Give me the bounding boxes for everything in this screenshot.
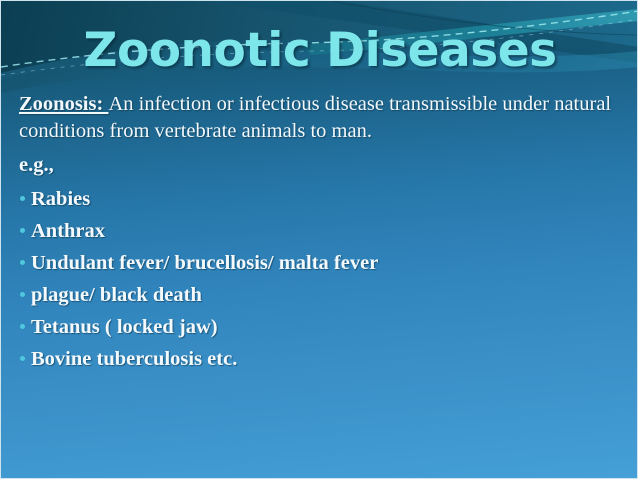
list-item-label: Tetanus ( locked jaw) (31, 316, 218, 338)
list-item: Bovine tuberculosis etc. (19, 343, 625, 375)
disease-list: Rabies Anthrax Undulant fever/ brucellos… (19, 183, 625, 375)
bullet-dot-icon (20, 324, 25, 329)
definition-term: Zoonosis: (19, 93, 108, 115)
list-item: Tetanus ( locked jaw) (19, 311, 625, 343)
definition-paragraph: Zoonosis: An infection or infectious dis… (19, 91, 625, 144)
list-item-label: plague/ black death (31, 284, 202, 306)
list-item-label: Rabies (31, 188, 90, 210)
presentation-slide: Zoonotic Diseases Zoonosis: An infection… (0, 0, 638, 479)
definition-text: An infection or infectious disease trans… (19, 93, 611, 142)
bullet-dot-icon (20, 260, 25, 265)
list-item: Anthrax (19, 215, 625, 247)
list-item-label: Undulant fever/ brucellosis/ malta fever (31, 252, 378, 274)
example-label: e.g., (19, 144, 625, 179)
bullet-dot-icon (20, 292, 25, 297)
list-item: Undulant fever/ brucellosis/ malta fever (19, 247, 625, 279)
slide-body: Zoonosis: An infection or infectious dis… (19, 91, 625, 375)
bullet-dot-icon (20, 228, 25, 233)
bullet-dot-icon (20, 196, 25, 201)
bullet-dot-icon (20, 356, 25, 361)
list-item: plague/ black death (19, 279, 625, 311)
list-item: Rabies (19, 183, 625, 215)
page-title: Zoonotic Diseases (1, 27, 638, 74)
list-item-label: Bovine tuberculosis etc. (31, 348, 237, 370)
list-item-label: Anthrax (31, 220, 105, 242)
